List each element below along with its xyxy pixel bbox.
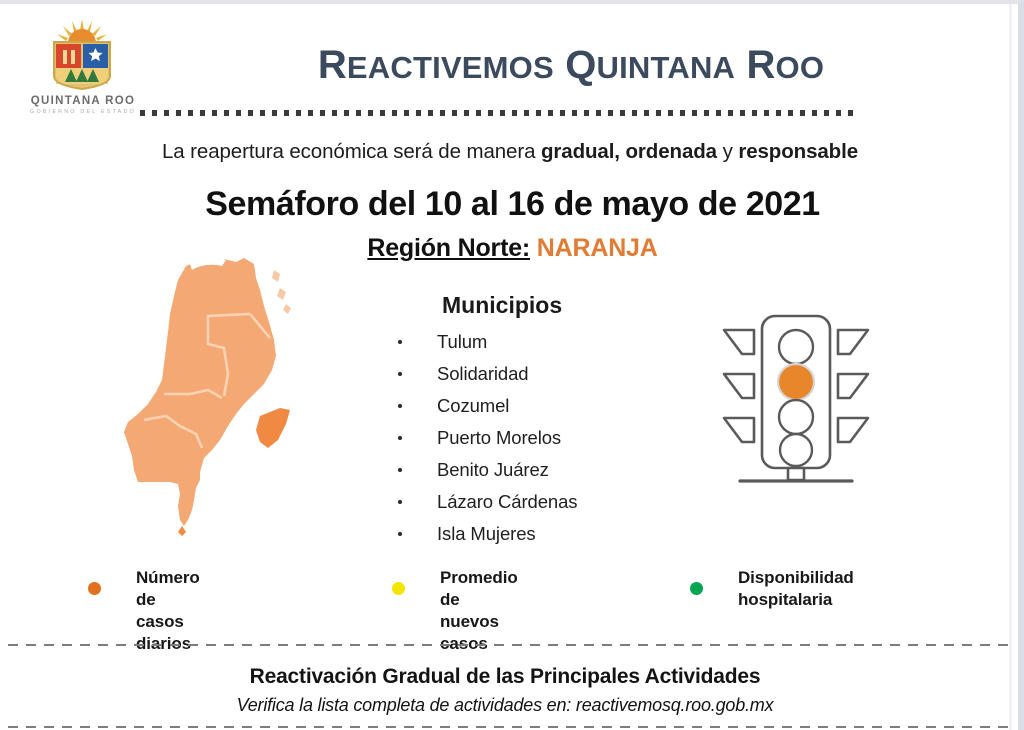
lamp-4-off bbox=[780, 434, 812, 466]
yellow-dot-icon bbox=[392, 582, 405, 595]
subtitle-text-1: La reapertura económica será de manera bbox=[162, 140, 541, 163]
logo-tagline: GOBIERNO DEL ESTADO bbox=[22, 109, 144, 115]
dashed-divider-bottom bbox=[8, 726, 1008, 728]
government-logo: QUINTANA ROO GOBIERNO DEL ESTADO bbox=[22, 16, 144, 120]
bullet-icon bbox=[398, 404, 402, 408]
list-item: Cozumel bbox=[380, 390, 710, 422]
title-segment-1: R bbox=[318, 43, 347, 87]
list-item: Puerto Morelos bbox=[380, 422, 710, 454]
bullet-icon bbox=[398, 436, 402, 440]
logo-state-name: QUINTANA ROO bbox=[22, 95, 144, 107]
infographic-poster: QUINTANA ROO GOBIERNO DEL ESTADO REACTIV… bbox=[0, 0, 1024, 730]
quintana-roo-state-map-icon bbox=[104, 244, 336, 536]
municipios-title: Municipios bbox=[380, 292, 710, 319]
traffic-light bbox=[712, 302, 880, 494]
municipio-label: Isla Mujeres bbox=[437, 523, 536, 544]
title-segment-3: R bbox=[746, 43, 775, 87]
municipio-label: Tulum bbox=[437, 331, 487, 352]
poster-subtitle: La reapertura económica será de manera g… bbox=[60, 140, 960, 164]
dotted-divider bbox=[140, 110, 858, 116]
municipio-label: Puerto Morelos bbox=[437, 427, 561, 448]
poster-header: QUINTANA ROO GOBIERNO DEL ESTADO REACTIV… bbox=[0, 4, 1010, 180]
footer-title: Reactivación Gradual de las Principales … bbox=[0, 665, 1010, 689]
subtitle-bold-1: gradual, ordenada bbox=[541, 140, 717, 163]
list-item: Tulum bbox=[380, 326, 710, 358]
municipio-label: Lázaro Cárdenas bbox=[437, 491, 577, 512]
title-segment-2-rest: UINTANA bbox=[597, 50, 736, 85]
bullet-icon bbox=[398, 468, 402, 472]
lamp-1-off bbox=[779, 330, 813, 364]
subtitle-text-2: y bbox=[717, 140, 738, 163]
municipio-label: Cozumel bbox=[437, 395, 509, 416]
municipio-label: Solidaridad bbox=[437, 363, 528, 384]
municipios-panel: Municipios Tulum Solidaridad Cozumel Pue… bbox=[380, 292, 710, 550]
green-dot-icon bbox=[690, 582, 703, 595]
status-badge: NARANJA bbox=[537, 234, 658, 262]
page-title: REACTIVEMOS QUINTANA ROO bbox=[140, 45, 1002, 85]
subtitle-bold-2: responsable bbox=[738, 140, 858, 163]
poster-footer: Reactivación Gradual de las Principales … bbox=[0, 644, 1010, 730]
list-item: Isla Mujeres bbox=[380, 518, 710, 550]
traffic-light-icon bbox=[712, 302, 880, 494]
state-map bbox=[104, 244, 336, 536]
lamp-2-on-orange bbox=[778, 364, 814, 400]
title-segment-1-rest: EACTIVEMOS bbox=[347, 50, 554, 85]
orange-dot-icon bbox=[88, 582, 101, 595]
legend-label: Promedio de nuevos casos bbox=[440, 567, 518, 655]
indicator-legend: Número de casos diarios Promedio de nuev… bbox=[0, 562, 1010, 632]
list-item: Solidaridad bbox=[380, 358, 710, 390]
municipios-list: Tulum Solidaridad Cozumel Puerto Morelos… bbox=[380, 326, 710, 550]
title-segment-2: Q bbox=[565, 43, 596, 87]
legend-label: Disponibilidad hospitalaria bbox=[738, 567, 854, 611]
footer-subtitle: Verifica la lista completa de actividade… bbox=[0, 695, 1010, 716]
region-label: Región Norte: bbox=[367, 234, 530, 262]
list-item: Lázaro Cárdenas bbox=[380, 486, 710, 518]
bullet-icon bbox=[398, 340, 402, 344]
list-item: Benito Juárez bbox=[380, 454, 710, 486]
dashed-divider-top bbox=[8, 644, 1008, 646]
bullet-icon bbox=[398, 500, 402, 504]
bullet-icon bbox=[398, 532, 402, 536]
legend-label: Número de casos diarios bbox=[136, 567, 200, 655]
lamp-3-off bbox=[779, 400, 813, 434]
title-segment-3-rest: OO bbox=[776, 50, 825, 85]
quintana-roo-coat-of-arms-icon bbox=[44, 16, 120, 92]
bullet-icon bbox=[398, 372, 402, 376]
semaforo-date-range: Semáforo del 10 al 16 de mayo de 2021 bbox=[60, 185, 965, 224]
municipio-label: Benito Juárez bbox=[437, 459, 549, 480]
